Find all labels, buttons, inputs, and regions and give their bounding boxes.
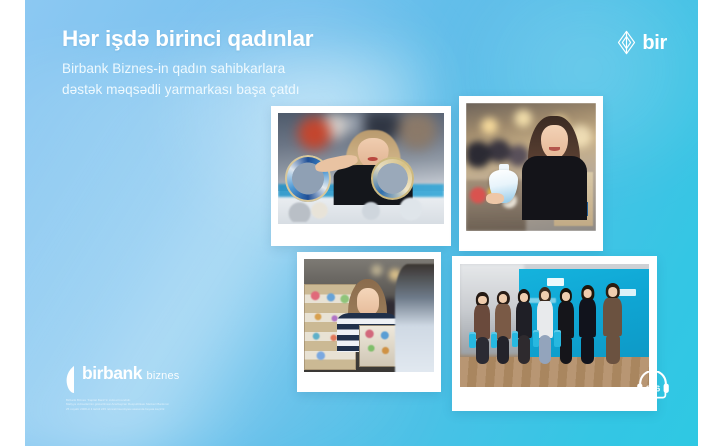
photo-card-2[interactable] <box>459 96 603 251</box>
photo-2-image <box>466 103 596 231</box>
scene-craft-stand <box>304 259 434 372</box>
promo-banner: Hər işdə birinci qadınlar Birbank Biznes… <box>25 0 698 446</box>
photo-3-image <box>304 259 434 372</box>
birbank-leaf-icon <box>66 366 75 393</box>
photo-1-image <box>278 113 444 224</box>
birbank-biznes-logo[interactable]: birbank biznes Birbank Biznes “Kapital B… <box>66 365 241 411</box>
photo-4-image <box>460 264 649 387</box>
scene-woman-with-vase <box>466 103 596 231</box>
scene-group-photo <box>460 264 649 387</box>
headset-icon: 096 <box>636 371 670 399</box>
bir-diamond-icon <box>617 30 636 55</box>
call-center-number: 096 <box>646 384 661 394</box>
fine-print-line-3: 25 noyabr 2008-ci il tarixli 245 nömrəli… <box>66 407 165 411</box>
birbank-biznes-sublabel: biznes <box>147 370 180 382</box>
call-center-badge[interactable]: 096 <box>636 371 670 399</box>
legal-fine-print: Birbank Biznes “Kapital Bank”in xidmət b… <box>66 398 216 411</box>
birbank-wordmark: birbank <box>82 363 142 383</box>
photo-card-4[interactable] <box>452 256 657 411</box>
group-figures <box>469 282 643 363</box>
photo-card-3[interactable] <box>297 252 441 392</box>
bir-logo[interactable]: bir <box>617 30 667 55</box>
subtitle-line-2: dəstək məqsədli yarmarkası başa çatdı <box>62 82 300 97</box>
photo-card-1[interactable] <box>271 106 451 246</box>
scene-mosaic-mirrors <box>278 113 444 224</box>
subtitle-line-1: Birbank Biznes-in qadın sahibkarlara <box>62 61 285 76</box>
page-title: Hər işdə birinci qadınlar <box>62 26 422 52</box>
headline-block: Hər işdə birinci qadınlar Birbank Biznes… <box>62 26 422 100</box>
page-subtitle: Birbank Biznes-in qadın sahibkarlara dəs… <box>62 59 422 100</box>
bir-wordmark: bir <box>642 33 667 53</box>
